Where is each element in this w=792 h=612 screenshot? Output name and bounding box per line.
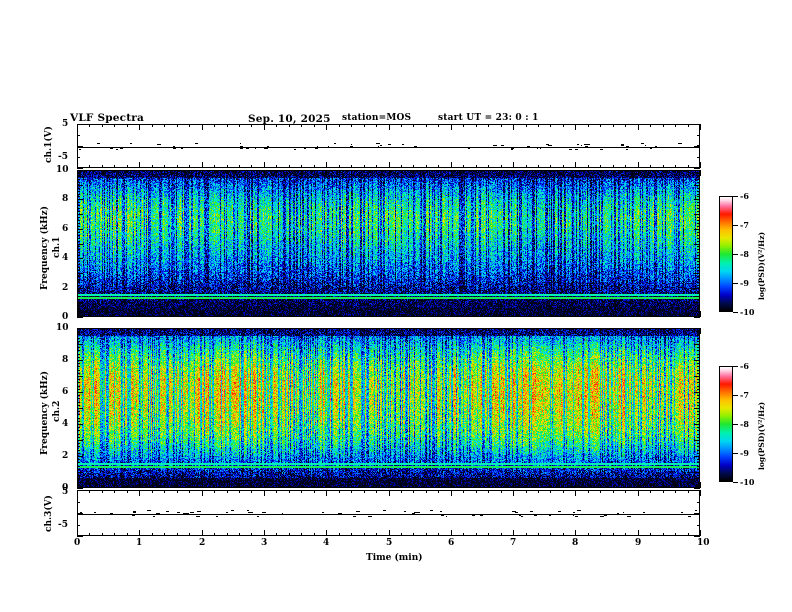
cb2-tick--6 xyxy=(733,366,738,367)
xtick-bottom-p1-29 xyxy=(438,314,439,317)
xtick-bottom-p1-24 xyxy=(376,314,377,317)
ch1-voltage-burst-20 xyxy=(501,145,504,146)
ch1v-ytick-r-0 xyxy=(694,124,700,125)
ch1-ytick-r-42 xyxy=(697,194,700,195)
ch1-ytick-l-16 xyxy=(77,270,80,271)
ch1-ytick-l-47 xyxy=(77,179,80,180)
page-title: VLF Spectra xyxy=(70,112,144,124)
xtick-bottom-p0-35 xyxy=(513,162,514,168)
xtick-top-p0-6 xyxy=(152,124,153,127)
xtick-top-p2-23 xyxy=(364,328,365,331)
xtick-top-p0-46 xyxy=(650,124,651,127)
ch3-voltage-burst-226 xyxy=(472,515,475,516)
xtick-bottom-p3-34 xyxy=(501,533,502,536)
xtick-top-p0-21 xyxy=(339,124,340,127)
ch1-ytick-l-30 xyxy=(77,229,83,230)
cb1-tick-label--10: -10 xyxy=(740,307,754,317)
ch2-ytick-l-21 xyxy=(77,421,80,422)
xtick-bottom-p2-6 xyxy=(152,485,153,488)
ch1-ytick-r-27 xyxy=(697,238,700,239)
xtick-top-p3-1 xyxy=(89,490,90,493)
xtick-top-p3-27 xyxy=(413,490,414,493)
xtick-top-p2-43 xyxy=(613,328,614,331)
xtick-bottom-p1-14 xyxy=(251,314,252,317)
xtick-top-p1-43 xyxy=(613,170,614,173)
ch2-ytick-r-45 xyxy=(694,344,700,345)
ch1-spectrogram-panel xyxy=(77,170,700,317)
ch2-ytick-l-19 xyxy=(77,427,80,428)
xtick-bottom-p1-23 xyxy=(364,314,365,317)
ch1v-ytick-l-3 xyxy=(77,157,80,158)
cb1-tick--7 xyxy=(733,225,738,226)
xtick-bottom-p0-50 xyxy=(700,162,701,168)
xtick-bottom-p2-34 xyxy=(501,485,502,488)
xtick-bottom-p1-46 xyxy=(650,314,651,317)
xtick-top-p2-29 xyxy=(438,328,439,331)
ch3-voltage-burst-89 xyxy=(441,515,444,516)
ch1-ytick-r-22 xyxy=(697,252,700,253)
ch1-spectrogram-image xyxy=(78,171,699,316)
ch1-ytick-r-41 xyxy=(697,196,700,197)
ch2-ytick-l-37 xyxy=(77,370,80,371)
xtick-top-p2-20 xyxy=(326,328,327,334)
xtick-bottom-p2-35 xyxy=(513,482,514,488)
ch1-ytick-r-40 xyxy=(694,199,700,200)
ch1-ytick-l-15 xyxy=(77,273,83,274)
xtick-bottom-p1-45 xyxy=(638,311,639,317)
xtick-bottom-p1-39 xyxy=(563,314,564,317)
ch1-voltage-burst-83 xyxy=(173,148,176,149)
xtick-bottom-p0-10 xyxy=(202,162,203,168)
ch1-voltage-burst-56 xyxy=(376,143,380,144)
ch1-ytick-l-20 xyxy=(77,258,83,259)
xtick-bottom-p3-44 xyxy=(625,533,626,536)
xtick-top-p2-19 xyxy=(314,328,315,331)
xtick-bottom-p3-24 xyxy=(376,533,377,536)
ch1-ytick-l-7 xyxy=(77,296,80,297)
ch2-ytick-l-13 xyxy=(77,446,80,447)
ch1-ytick-r-11 xyxy=(697,285,700,286)
ch1-voltage-burst-168 xyxy=(187,147,189,148)
xtick-bottom-p2-48 xyxy=(675,485,676,488)
cb1-tick--9 xyxy=(733,283,738,284)
xtick-top-p1-14 xyxy=(251,170,252,173)
xtick-top-p2-42 xyxy=(600,328,601,331)
ch2-ytick-l-25 xyxy=(77,408,83,409)
cb1-tick--8 xyxy=(733,254,738,255)
xtick-bottom-p1-11 xyxy=(214,314,215,317)
ch1-voltage-burst-48 xyxy=(240,143,241,144)
ch2-ytick-l-12 xyxy=(77,450,80,451)
ch1-volt-tick-neg5: -5 xyxy=(58,152,68,162)
xtick-top-p0-40 xyxy=(575,124,576,130)
xtick-bottom-p1-27 xyxy=(413,314,414,317)
xtick-top-p1-33 xyxy=(488,170,489,173)
ch2-ytick-l-26 xyxy=(77,405,80,406)
xtick-top-p0-39 xyxy=(563,124,564,127)
xtick-bottom-p1-9 xyxy=(189,314,190,317)
xtick-bottom-p2-9 xyxy=(189,485,190,488)
xtick-top-p3-16 xyxy=(276,490,277,493)
xtick-top-p1-39 xyxy=(563,170,564,173)
ch2-ytick-l-10 xyxy=(77,456,83,457)
ch3-voltage-burst-83 xyxy=(617,513,619,514)
ch1-voltage-burst-34 xyxy=(240,146,243,147)
xtick-top-p0-45 xyxy=(638,124,639,130)
ch1-ytick-r-9 xyxy=(697,291,700,292)
xtick-bottom-p3-8 xyxy=(177,533,178,536)
ch1-voltage-burst-224 xyxy=(548,145,552,146)
ch1-ytick-l-1 xyxy=(77,314,80,315)
ch1-voltage-burst-0 xyxy=(79,149,81,150)
ch2-ytick-r-34 xyxy=(697,379,700,380)
ch1-voltage-burst-257 xyxy=(621,145,624,146)
ch1-ytick-r-49 xyxy=(697,173,700,174)
x-axis-label: Time (min) xyxy=(366,553,423,563)
xtick-top-p1-27 xyxy=(413,170,414,173)
ch2-ytick-r-28 xyxy=(697,398,700,399)
xtick-top-p3-19 xyxy=(314,490,315,493)
xtick-top-p0-23 xyxy=(364,124,365,127)
cb2-tick--7 xyxy=(733,395,738,396)
start-ut-label: start UT = 23: 0 : 1 xyxy=(438,113,539,123)
xtick-bottom-p0-37 xyxy=(538,165,539,168)
xtick-bottom-p3-28 xyxy=(426,533,427,536)
ch1-ytick-r-34 xyxy=(697,217,700,218)
xtick-top-p0-24 xyxy=(376,124,377,127)
ch2-spectrogram-image xyxy=(78,329,699,487)
xtick-top-p2-36 xyxy=(526,328,527,331)
ch2-ytick-l-41 xyxy=(77,357,80,358)
ch1-ytick-r-10 xyxy=(694,288,700,289)
ch2-ytick-r-29 xyxy=(697,395,700,396)
ch2-ytick-l-24 xyxy=(77,411,80,412)
ch3v-ytick-l-0 xyxy=(77,490,83,491)
xtick-top-p2-41 xyxy=(588,328,589,331)
ch2-ytick-r-37 xyxy=(697,370,700,371)
xtick-bottom-p2-19 xyxy=(314,485,315,488)
cb2-tick--10 xyxy=(733,482,738,483)
xtick-top-p3-26 xyxy=(401,490,402,493)
ch1-ytick-l-4 xyxy=(77,305,80,306)
x-tick-label-9: 9 xyxy=(635,538,641,548)
ch1-ytick-l-5 xyxy=(77,302,83,303)
xtick-bottom-p2-14 xyxy=(251,485,252,488)
ch1-voltage-burst-232 xyxy=(493,145,497,146)
xtick-bottom-p2-5 xyxy=(139,482,140,488)
xtick-bottom-p3-46 xyxy=(650,533,651,536)
ch2-ytick-r-27 xyxy=(697,402,700,403)
xtick-bottom-p1-16 xyxy=(276,314,277,317)
xtick-top-p1-4 xyxy=(127,170,128,173)
x-tick-label-8: 8 xyxy=(572,538,578,548)
xtick-top-p2-15 xyxy=(264,328,265,334)
ch1-voltage-burst-196 xyxy=(334,143,336,144)
ch1-ytick-r-14 xyxy=(697,276,700,277)
x-tick-label-6: 6 xyxy=(448,538,454,548)
ch1-colorbar xyxy=(719,196,733,312)
ch2-ytick-l-46 xyxy=(77,341,80,342)
xtick-bottom-p2-30 xyxy=(451,482,452,488)
ch1-ytick-l-17 xyxy=(77,267,80,268)
ch1-voltage-burst-41 xyxy=(435,147,437,148)
xtick-top-p2-49 xyxy=(688,328,689,331)
ch1-ytick-r-28 xyxy=(697,235,700,236)
ch1-ytick-r-37 xyxy=(697,208,700,209)
ch2-ytick-r-2 xyxy=(697,482,700,483)
ch3v-ytick-r-4 xyxy=(694,536,700,537)
xtick-bottom-p1-48 xyxy=(675,314,676,317)
ch2-ytick-r-22 xyxy=(697,418,700,419)
xtick-top-p0-11 xyxy=(214,124,215,127)
xtick-bottom-p2-7 xyxy=(164,485,165,488)
xtick-bottom-p1-36 xyxy=(526,314,527,317)
ch2-ytick-r-39 xyxy=(697,363,700,364)
ch1-ytick-r-29 xyxy=(697,232,700,233)
ch3v-ytick-l-2 xyxy=(77,513,83,514)
xtick-top-p3-2 xyxy=(102,490,103,493)
ch2-ytick-l-11 xyxy=(77,453,80,454)
xtick-bottom-p3-35 xyxy=(513,530,514,536)
xtick-bottom-p2-22 xyxy=(351,485,352,488)
xtick-bottom-p1-40 xyxy=(575,311,576,317)
xtick-bottom-p3-4 xyxy=(127,533,128,536)
ch1-voltage-burst-225 xyxy=(157,144,161,145)
ch1-voltage-burst-221 xyxy=(315,148,316,149)
xtick-bottom-p3-16 xyxy=(276,533,277,536)
ch1-ytick-l-14 xyxy=(77,276,80,277)
ch2-ytick-r-24 xyxy=(697,411,700,412)
xtick-bottom-p1-18 xyxy=(301,314,302,317)
xtick-bottom-p0-25 xyxy=(389,162,390,168)
ch1-voltage-axis-label: ch.1(V) xyxy=(44,126,54,163)
xtick-top-p3-11 xyxy=(214,490,215,493)
xtick-bottom-p2-15 xyxy=(264,482,265,488)
ch3-voltage-burst-196 xyxy=(440,511,442,512)
xtick-bottom-p0-14 xyxy=(251,165,252,168)
xtick-bottom-p3-9 xyxy=(189,533,190,536)
xtick-top-p3-49 xyxy=(688,490,689,493)
ch1-voltage-burst-212 xyxy=(173,146,175,147)
ch1-voltage-burst-70 xyxy=(246,148,249,149)
ch2-ytick-r-16 xyxy=(697,437,700,438)
xtick-bottom-p0-38 xyxy=(550,165,551,168)
xtick-bottom-p2-38 xyxy=(550,485,551,488)
xtick-top-p2-40 xyxy=(575,328,576,334)
ch1-ytick-l-46 xyxy=(77,182,80,183)
xtick-top-p3-34 xyxy=(501,490,502,493)
ch1-ytick-l-29 xyxy=(77,232,80,233)
ch1v-ytick-l-4 xyxy=(77,168,83,169)
ch3-voltage-burst-14 xyxy=(147,510,151,511)
ch2-ytick-r-9 xyxy=(697,459,700,460)
xtick-bottom-p3-5 xyxy=(139,530,140,536)
xtick-bottom-p3-1 xyxy=(89,533,90,536)
ch2-ytick-l-9 xyxy=(77,459,80,460)
cb1-tick-label--9: -9 xyxy=(740,278,749,288)
xtick-bottom-p0-23 xyxy=(364,165,365,168)
ch3-voltage-burst-131 xyxy=(226,512,228,513)
xtick-bottom-p1-43 xyxy=(613,314,614,317)
xtick-bottom-p0-46 xyxy=(650,165,651,168)
ch2-ytick-r-41 xyxy=(697,357,700,358)
xtick-bottom-p0-33 xyxy=(488,165,489,168)
ch2-ytick-r-42 xyxy=(697,354,700,355)
xtick-bottom-p1-38 xyxy=(550,314,551,317)
xtick-bottom-p3-17 xyxy=(289,533,290,536)
x-tick-label-7: 7 xyxy=(510,538,516,548)
ch2-ytick-l-34 xyxy=(77,379,80,380)
ch1-ytick-r-30 xyxy=(694,229,700,230)
ch1-voltage-burst-26 xyxy=(130,143,132,144)
ch3-voltage-burst-148 xyxy=(156,513,160,514)
cb2-tick-label--7: -7 xyxy=(740,390,749,400)
ch1-ytick-r-46 xyxy=(697,182,700,183)
xtick-bottom-p1-31 xyxy=(463,314,464,317)
xtick-bottom-p1-21 xyxy=(339,314,340,317)
ch2-ytick-r-26 xyxy=(697,405,700,406)
ch1-ylabel-6: 6 xyxy=(62,224,68,234)
xtick-top-p3-21 xyxy=(339,490,340,493)
ch1-voltage-burst-202 xyxy=(316,148,318,149)
ch1-ytick-l-6 xyxy=(77,299,80,300)
ch1-voltage-burst-19 xyxy=(511,149,513,150)
ch1-ytick-l-0 xyxy=(77,317,83,318)
ch3-voltage-burst-177 xyxy=(231,510,234,511)
xtick-top-p1-28 xyxy=(426,170,427,173)
ch3-voltage-burst-104 xyxy=(604,515,607,516)
xtick-top-p3-28 xyxy=(426,490,427,493)
ch1-ytick-l-11 xyxy=(77,285,80,286)
xtick-bottom-p2-49 xyxy=(688,485,689,488)
xtick-top-p1-49 xyxy=(688,170,689,173)
xtick-bottom-p0-41 xyxy=(588,165,589,168)
ch1v-ytick-l-1 xyxy=(77,135,80,136)
xtick-top-p1-35 xyxy=(513,170,514,176)
xtick-top-p2-28 xyxy=(426,328,427,331)
xtick-bottom-p3-11 xyxy=(214,533,215,536)
x-tick-label-4: 4 xyxy=(323,538,329,548)
ch2-spec-axis-label-line2: Frequency (kHz) xyxy=(40,371,50,455)
ch2-ytick-r-13 xyxy=(697,446,700,447)
ch2-ytick-l-22 xyxy=(77,418,80,419)
ch1-voltage-trace xyxy=(78,147,699,148)
ch2-ytick-r-36 xyxy=(697,373,700,374)
xtick-bottom-p0-26 xyxy=(401,165,402,168)
xtick-bottom-p2-39 xyxy=(563,485,564,488)
xtick-bottom-p2-2 xyxy=(102,485,103,488)
xtick-bottom-p0-34 xyxy=(501,165,502,168)
ch3-voltage-burst-165 xyxy=(322,512,324,513)
ch1-voltage-burst-169 xyxy=(343,147,346,148)
xtick-top-p3-46 xyxy=(650,490,651,493)
ch2-ytick-l-44 xyxy=(77,347,80,348)
xtick-top-p1-16 xyxy=(276,170,277,173)
xtick-bottom-p1-1 xyxy=(89,314,90,317)
ch2-ytick-l-16 xyxy=(77,437,80,438)
xtick-bottom-p2-18 xyxy=(301,485,302,488)
xtick-top-p1-26 xyxy=(401,170,402,173)
xtick-top-p2-32 xyxy=(476,328,477,331)
ch3-voltage-burst-232 xyxy=(132,515,135,516)
xtick-top-p0-1 xyxy=(89,124,90,127)
ch2-spectrogram-panel xyxy=(77,328,700,488)
xtick-bottom-p0-48 xyxy=(675,165,676,168)
xtick-top-p2-35 xyxy=(513,328,514,334)
cb2-tick-label--9: -9 xyxy=(740,448,749,458)
xtick-bottom-p2-11 xyxy=(214,485,215,488)
xtick-top-p2-4 xyxy=(127,328,128,331)
xtick-bottom-p2-27 xyxy=(413,485,414,488)
ch1-voltage-burst-227 xyxy=(328,146,329,147)
xtick-bottom-p3-39 xyxy=(563,533,564,536)
ch2-ytick-r-19 xyxy=(697,427,700,428)
ch3-voltage-burst-67 xyxy=(282,513,283,514)
ch2-ytick-l-6 xyxy=(77,469,80,470)
xtick-top-p3-6 xyxy=(152,490,153,493)
xtick-top-p0-12 xyxy=(227,124,228,127)
xtick-bottom-p1-30 xyxy=(451,311,452,317)
xtick-top-p3-29 xyxy=(438,490,439,493)
xtick-bottom-p3-14 xyxy=(251,533,252,536)
xtick-top-p2-2 xyxy=(102,328,103,331)
ch3-voltage-burst-123 xyxy=(573,512,575,513)
ch3-voltage-burst-52 xyxy=(600,516,604,517)
ch1-ytick-r-16 xyxy=(697,270,700,271)
ch1-voltage-burst-159 xyxy=(645,145,646,146)
ch1-voltage-burst-82 xyxy=(527,146,530,147)
xtick-top-p0-19 xyxy=(314,124,315,127)
ch2-ytick-r-30 xyxy=(694,392,700,393)
ch2-ytick-l-45 xyxy=(77,344,83,345)
xtick-bottom-p2-45 xyxy=(638,482,639,488)
ch1-ytick-l-44 xyxy=(77,188,80,189)
xtick-top-p1-25 xyxy=(389,170,390,176)
xtick-bottom-p0-17 xyxy=(289,165,290,168)
ch1-ytick-l-8 xyxy=(77,293,80,294)
xtick-bottom-p1-5 xyxy=(139,311,140,317)
xtick-top-p2-18 xyxy=(301,328,302,331)
xtick-top-p1-8 xyxy=(177,170,178,173)
ch3-voltage-burst-30 xyxy=(549,515,551,516)
ch2-colorbar xyxy=(719,366,733,482)
xtick-top-p0-35 xyxy=(513,124,514,130)
xtick-bottom-p3-43 xyxy=(613,533,614,536)
xtick-top-p0-37 xyxy=(538,124,539,127)
ch1-ytick-l-43 xyxy=(77,191,80,192)
ch1-ytick-r-24 xyxy=(697,246,700,247)
cb2-tick-label--8: -8 xyxy=(740,419,749,429)
ch1-voltage-burst-8 xyxy=(317,146,318,147)
xtick-top-p3-42 xyxy=(600,490,601,493)
xtick-bottom-p1-34 xyxy=(501,314,502,317)
xtick-top-p1-30 xyxy=(451,170,452,176)
ch1-ytick-l-9 xyxy=(77,291,80,292)
ch3-voltage-burst-183 xyxy=(577,510,581,511)
ch3v-ytick-l-4 xyxy=(77,536,83,537)
ch3-voltage-burst-190 xyxy=(534,515,537,516)
xtick-bottom-p3-13 xyxy=(239,533,240,536)
ch3-voltage-burst-219 xyxy=(183,513,187,514)
xtick-top-p1-29 xyxy=(438,170,439,173)
ch1-ytick-r-15 xyxy=(694,273,700,274)
ch1-ytick-r-12 xyxy=(697,282,700,283)
ch2-ytick-r-10 xyxy=(694,456,700,457)
xtick-top-p1-48 xyxy=(675,170,676,173)
ch2-ytick-l-17 xyxy=(77,434,80,435)
xtick-bottom-p3-2 xyxy=(102,533,103,536)
xtick-top-p0-48 xyxy=(675,124,676,127)
